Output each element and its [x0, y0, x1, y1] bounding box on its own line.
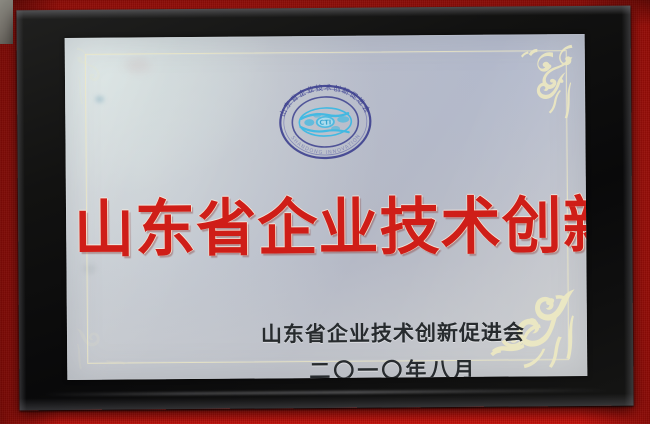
signature-block: 山东省企业技术创新促进会 二〇一〇年八月 — [261, 316, 526, 380]
issue-date: 二〇一〇年八月 — [261, 353, 525, 380]
black-wood-frame: 山东省企业技术创新促进会 SHANDONG INNOVATION — [16, 6, 633, 411]
organization-seal: 山东省企业技术创新促进会 SHANDONG INNOVATION — [270, 76, 381, 168]
issuing-organization: 山东省企业技术创新促进会 — [261, 316, 525, 348]
floor-sliver — [0, 0, 13, 44]
award-plaque-photo: 山东省企业技术创新促进会 SHANDONG INNOVATION — [0, 0, 650, 424]
svg-text:CTI: CTI — [319, 118, 331, 126]
award-title: 山东省企业技术创新奖 — [74, 194, 579, 262]
plaque-plate: 山东省企业技术创新促进会 SHANDONG INNOVATION — [65, 34, 588, 380]
svg-text:山东省企业技术创新促进会: 山东省企业技术创新促进会 — [277, 81, 373, 118]
